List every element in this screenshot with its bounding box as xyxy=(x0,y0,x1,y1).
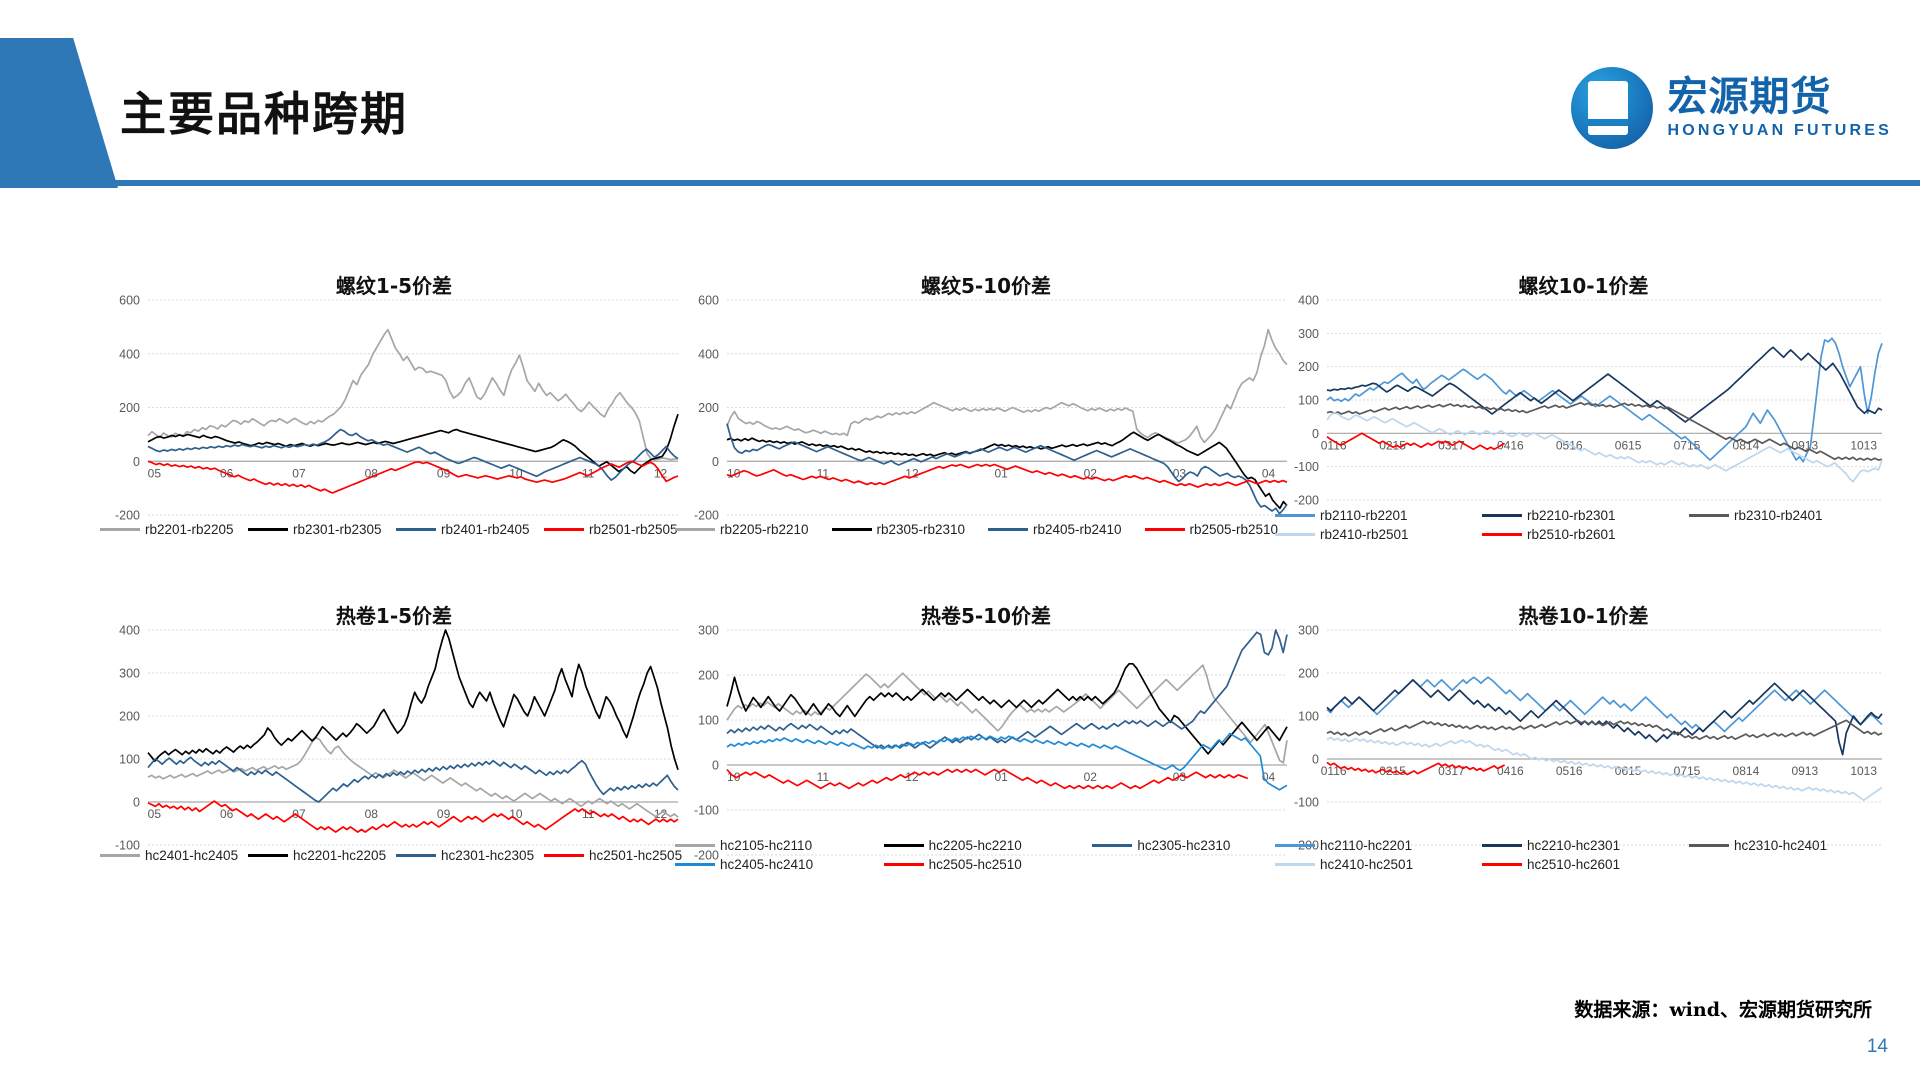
x-axis-tick-label: 0615 xyxy=(1615,438,1642,452)
legend-label: hc2510-hc2601 xyxy=(1527,857,1620,872)
legend-item[interactable]: rb2305-rb2310 xyxy=(832,522,989,537)
legend-item[interactable]: rb2210-rb2301 xyxy=(1482,508,1689,523)
legend-color-swatch-icon xyxy=(1482,514,1522,517)
x-axis-tick-label: 0615 xyxy=(1615,764,1642,778)
legend-label: rb2210-rb2301 xyxy=(1527,508,1616,523)
series-line-rb2210-rb2301 xyxy=(1327,347,1882,422)
legend-color-swatch-icon xyxy=(832,528,872,531)
legend-label: rb2405-rb2410 xyxy=(1033,522,1122,537)
x-axis-tick-label: 05 xyxy=(148,466,162,480)
x-axis-tick-label: 04 xyxy=(1262,466,1276,480)
y-axis-tick-label: 0 xyxy=(712,455,719,469)
legend-color-swatch-icon xyxy=(396,854,436,857)
legend-label: rb2110-rb2201 xyxy=(1320,508,1408,523)
legend-item[interactable]: rb2201-rb2205 xyxy=(100,522,248,537)
legend-item[interactable]: hc2410-hc2501 xyxy=(1275,857,1482,872)
y-axis-tick-label: 400 xyxy=(119,624,140,638)
legend-color-swatch-icon xyxy=(1275,844,1315,847)
legend-item[interactable]: rb2401-rb2405 xyxy=(396,522,544,537)
legend-label: rb2301-rb2305 xyxy=(293,522,382,537)
legend-item[interactable]: hc2401-hc2405 xyxy=(100,848,248,863)
x-axis-tick-label: 0814 xyxy=(1733,764,1760,778)
legend-color-swatch-icon xyxy=(100,854,140,857)
legend-item[interactable]: rb2405-rb2410 xyxy=(988,522,1145,537)
legend-item[interactable]: hc2305-hc2310 xyxy=(1092,838,1301,853)
data-source-note: 数据来源：wind、宏源期货研究所 xyxy=(1574,995,1872,1022)
y-axis-tick-label: 0 xyxy=(1312,427,1319,441)
legend-label: hc2105-hc2110 xyxy=(720,838,812,853)
x-axis-tick-label: 05 xyxy=(148,807,162,821)
legend-label: rb2401-rb2405 xyxy=(441,522,530,537)
legend-item[interactable]: hc2110-hc2201 xyxy=(1275,838,1482,853)
x-axis-tick-label: 1013 xyxy=(1850,764,1877,778)
legend-color-swatch-icon xyxy=(396,528,436,531)
chart-plot-rb-5-10: -200020040060010111201020304 xyxy=(675,292,1301,541)
series-line-rb2301-rb2305 xyxy=(148,414,678,473)
y-axis-tick-label: 400 xyxy=(1298,294,1319,308)
x-axis-tick-label: 0913 xyxy=(1791,764,1818,778)
legend-label: rb2501-rb2505 xyxy=(589,522,678,537)
series-line-hc2505-hc2510 xyxy=(727,770,1248,789)
legend-label: hc2110-hc2201 xyxy=(1320,838,1412,853)
y-axis-tick-label: 100 xyxy=(698,714,719,728)
y-axis-tick-label: 300 xyxy=(1298,327,1319,341)
legend-label: rb2410-rb2501 xyxy=(1320,527,1409,542)
chart-legend-rb-5-10: rb2205-rb2210rb2305-rb2310rb2405-rb2410r… xyxy=(675,522,1301,541)
y-axis-tick-label: 100 xyxy=(1298,394,1319,408)
x-axis-tick-label: 08 xyxy=(365,807,379,821)
y-axis-tick-label: 200 xyxy=(698,669,719,683)
chart-legend-rb-10-1: rb2110-rb2201rb2210-rb2301rb2310-rb2401r… xyxy=(1275,508,1896,546)
legend-item[interactable]: rb2310-rb2401 xyxy=(1689,508,1896,523)
y-axis-tick-label: 200 xyxy=(119,710,140,724)
y-axis-tick-label: -200 xyxy=(694,509,719,523)
legend-label: hc2305-hc2310 xyxy=(1137,838,1230,853)
y-axis-tick-label: 600 xyxy=(698,294,719,308)
chart-legend-hc-5-10: hc2105-hc2110hc2205-hc2210hc2305-hc2310h… xyxy=(675,838,1301,876)
legend-color-swatch-icon xyxy=(884,863,924,866)
legend-color-swatch-icon xyxy=(675,863,715,866)
series-line-hc2401-hc2405 xyxy=(148,738,678,818)
legend-item[interactable]: hc2310-hc2401 xyxy=(1689,838,1896,853)
legend-color-swatch-icon xyxy=(1275,514,1315,517)
legend-label: hc2205-hc2210 xyxy=(929,838,1022,853)
legend-color-swatch-icon xyxy=(675,844,715,847)
series-line-hc2510-hc2601 xyxy=(1327,762,1505,774)
legend-color-swatch-icon xyxy=(1689,844,1729,847)
x-axis-tick-label: 01 xyxy=(994,770,1008,784)
y-axis-tick-label: 400 xyxy=(119,347,140,361)
legend-color-swatch-icon xyxy=(1275,533,1315,536)
logo-text-block: 宏源期货 HONGYUAN FUTURES xyxy=(1667,76,1892,140)
chart-legend-hc-1-5: hc2401-hc2405hc2201-hc2205hc2301-hc2305h… xyxy=(100,848,692,867)
y-axis-tick-label: 100 xyxy=(119,753,140,767)
y-axis-tick-label: -100 xyxy=(1294,796,1319,810)
y-axis-tick-label: -200 xyxy=(1294,494,1319,508)
y-axis-tick-label: 0 xyxy=(712,759,719,773)
hongyuan-logo-icon xyxy=(1571,67,1653,149)
y-axis-tick-label: 400 xyxy=(698,347,719,361)
legend-color-swatch-icon xyxy=(1482,533,1522,536)
y-axis-tick-label: 200 xyxy=(119,401,140,415)
legend-label: hc2301-hc2305 xyxy=(441,848,534,863)
legend-label: hc2210-hc2301 xyxy=(1527,838,1620,853)
legend-label: hc2410-hc2501 xyxy=(1320,857,1413,872)
x-axis-tick-label: 1013 xyxy=(1850,438,1877,452)
legend-label: hc2505-hc2510 xyxy=(929,857,1022,872)
series-line-rb2510-rb2601 xyxy=(1327,433,1505,449)
legend-item[interactable]: rb2205-rb2210 xyxy=(675,522,832,537)
legend-label: hc2501-hc2505 xyxy=(589,848,682,863)
legend-label: rb2305-rb2310 xyxy=(877,522,966,537)
legend-label: rb2205-rb2210 xyxy=(720,522,809,537)
y-axis-tick-label: 300 xyxy=(698,624,719,638)
x-axis-tick-label: 09 xyxy=(437,466,451,480)
page-title: 主要品种跨期 xyxy=(120,78,408,144)
legend-item[interactable]: rb2501-rb2505 xyxy=(544,522,692,537)
charts-grid: 螺纹1-5价差-20002004006000506070809101112rb2… xyxy=(0,250,1920,940)
chart-legend-rb-1-5: rb2201-rb2205rb2301-rb2305rb2401-rb2405r… xyxy=(100,522,692,541)
legend-color-swatch-icon xyxy=(248,528,288,531)
y-axis-tick-label: 200 xyxy=(1298,360,1319,374)
header-accent-wedge xyxy=(0,38,118,188)
legend-item[interactable]: hc2201-hc2205 xyxy=(248,848,396,863)
company-logo: 宏源期货 HONGYUAN FUTURES xyxy=(1571,62,1892,154)
legend-color-swatch-icon xyxy=(1275,863,1315,866)
y-axis-tick-label: 0 xyxy=(133,455,140,469)
legend-label: rb2310-rb2401 xyxy=(1734,508,1823,523)
legend-label: hc2310-hc2401 xyxy=(1734,838,1827,853)
series-line-rb2205-rb2210 xyxy=(727,330,1287,443)
legend-item[interactable]: rb2510-rb2601 xyxy=(1482,527,1689,542)
y-axis-tick-label: 300 xyxy=(119,667,140,681)
y-axis-tick-label: 0 xyxy=(133,796,140,810)
chart-plot-hc-1-5: -10001002003004000506070809101112 xyxy=(100,622,692,871)
x-axis-tick-label: 0116 xyxy=(1321,764,1347,778)
logo-company-name-en: HONGYUAN FUTURES xyxy=(1667,122,1892,140)
x-axis-tick-label: 0215 xyxy=(1379,764,1406,778)
legend-item[interactable]: hc2405-hc2410 xyxy=(675,857,884,872)
series-line-hc2201-hc2205 xyxy=(148,630,678,770)
x-axis-tick-label: 07 xyxy=(292,466,306,480)
x-axis-tick-label: 0715 xyxy=(1674,438,1701,452)
legend-item[interactable]: rb2410-rb2501 xyxy=(1275,527,1482,542)
y-axis-tick-label: 0 xyxy=(1312,753,1319,767)
x-axis-tick-label: 12 xyxy=(905,466,919,480)
chart-legend-hc-10-1: hc2110-hc2201hc2210-hc2301hc2310-hc2401h… xyxy=(1275,838,1896,876)
x-axis-tick-label: 11 xyxy=(817,770,830,784)
legend-color-swatch-icon xyxy=(675,528,715,531)
legend-color-swatch-icon xyxy=(248,854,288,857)
legend-item[interactable]: hc2105-hc2110 xyxy=(675,838,884,853)
y-axis-tick-label: -100 xyxy=(694,804,719,818)
x-axis-tick-label: 0516 xyxy=(1556,764,1583,778)
x-axis-tick-label: 09 xyxy=(437,807,451,821)
y-axis-tick-label: 200 xyxy=(1298,667,1319,681)
legend-color-swatch-icon xyxy=(1689,514,1729,517)
legend-item[interactable]: hc2210-hc2301 xyxy=(1482,838,1689,853)
legend-label: rb2505-rb2510 xyxy=(1190,522,1279,537)
legend-color-swatch-icon xyxy=(884,844,924,847)
chart-plot-rb-1-5: -20002004006000506070809101112 xyxy=(100,292,692,541)
legend-color-swatch-icon xyxy=(100,528,140,531)
legend-item[interactable]: hc2205-hc2210 xyxy=(884,838,1093,853)
legend-color-swatch-icon xyxy=(1482,844,1522,847)
page-number: 14 xyxy=(1867,1036,1888,1058)
chart-plot-hc-10-1: -200-10001002003000116021503170416051606… xyxy=(1275,622,1896,871)
series-line-hc2301-hc2305 xyxy=(148,757,678,802)
legend-color-swatch-icon xyxy=(544,854,584,857)
legend-item[interactable]: hc2301-hc2305 xyxy=(396,848,544,863)
logo-company-name-cn: 宏源期货 xyxy=(1667,76,1892,118)
chart-plot-rb-10-1: -200-10001002003004000116021503170416051… xyxy=(1275,292,1896,526)
y-axis-tick-label: 600 xyxy=(119,294,140,308)
y-axis-tick-label: 100 xyxy=(1298,710,1319,724)
legend-item[interactable]: hc2505-hc2510 xyxy=(884,857,1093,872)
legend-label: rb2510-rb2601 xyxy=(1527,527,1616,542)
legend-color-swatch-icon xyxy=(1482,863,1522,866)
legend-label: hc2201-hc2205 xyxy=(293,848,386,863)
slide-header: 主要品种跨期 宏源期货 HONGYUAN FUTURES xyxy=(0,0,1920,200)
legend-item[interactable]: rb2110-rb2201 xyxy=(1275,508,1482,523)
x-axis-tick-label: 02 xyxy=(1084,770,1098,784)
y-axis-tick-label: 300 xyxy=(1298,624,1319,638)
legend-item[interactable]: hc2501-hc2505 xyxy=(544,848,692,863)
legend-color-swatch-icon xyxy=(544,528,584,531)
y-axis-tick-label: 200 xyxy=(698,401,719,415)
legend-item[interactable]: rb2301-rb2305 xyxy=(248,522,396,537)
series-line-hc2305-hc2310 xyxy=(727,630,1287,748)
header-divider-line xyxy=(112,180,1920,186)
legend-color-swatch-icon xyxy=(1092,844,1132,847)
y-axis-tick-label: -200 xyxy=(115,509,140,523)
legend-item[interactable]: hc2510-hc2601 xyxy=(1482,857,1689,872)
y-axis-tick-label: -100 xyxy=(1294,460,1319,474)
legend-label: hc2401-hc2405 xyxy=(145,848,238,863)
legend-color-swatch-icon xyxy=(1145,528,1185,531)
legend-color-swatch-icon xyxy=(988,528,1028,531)
legend-label: rb2201-rb2205 xyxy=(145,522,234,537)
legend-label: hc2405-hc2410 xyxy=(720,857,813,872)
